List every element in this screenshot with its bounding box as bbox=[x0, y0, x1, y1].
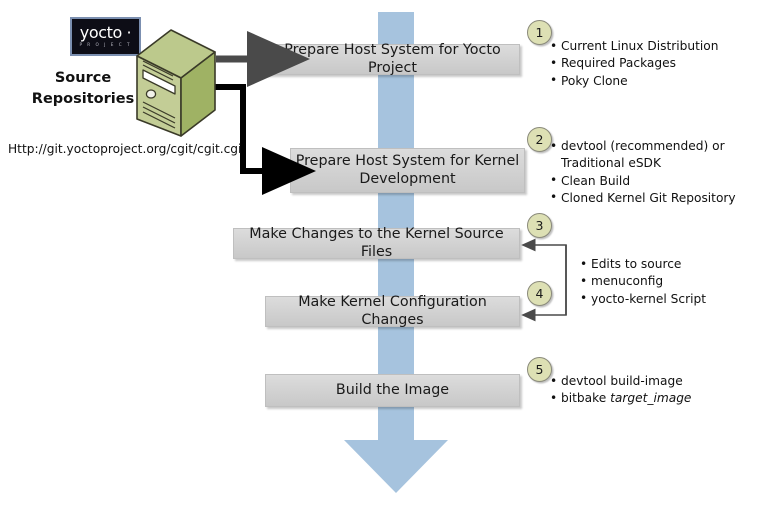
process-box-label: Make Kernel Configuration Changes bbox=[266, 294, 519, 330]
notes-steps-3-4: Edits to sourcemenuconfigyocto-kernel Sc… bbox=[580, 256, 706, 308]
note-text: bitbake bbox=[561, 391, 610, 405]
step-number-label: 5 bbox=[536, 362, 544, 377]
step-number-2: 2 bbox=[527, 127, 552, 152]
source-label-line-2: Repositories bbox=[24, 89, 142, 110]
note-text: devtool build-image bbox=[561, 374, 683, 388]
note-item: menuconfig bbox=[580, 273, 706, 290]
process-box-label-line-2: Development bbox=[359, 171, 455, 187]
note-item: Cloned Kernel Git Repository bbox=[550, 190, 736, 207]
server-icon bbox=[129, 26, 219, 141]
note-item: Edits to source bbox=[580, 256, 706, 273]
note-item: devtool (recommended) or bbox=[550, 138, 736, 155]
notes-step-1: Current Linux DistributionRequired Packa… bbox=[550, 38, 718, 90]
source-repository-url: Http://git.yoctoproject.org/cgit/cgit.cg… bbox=[8, 142, 241, 156]
process-box-make-config-changes[interactable]: Make Kernel Configuration Changes bbox=[265, 296, 520, 327]
note-item: bitbake target_image bbox=[550, 390, 691, 407]
note-item: Traditional eSDK bbox=[550, 155, 736, 172]
process-box-label: Prepare Host System for Yocto Project bbox=[266, 42, 519, 78]
note-text: menuconfig bbox=[591, 274, 663, 288]
workflow-diagram: yocto · P R O J E C T Source Repositorie… bbox=[0, 0, 769, 517]
note-item: Current Linux Distribution bbox=[550, 38, 718, 55]
note-item: yocto-kernel Script bbox=[580, 291, 706, 308]
note-text: Poky Clone bbox=[561, 74, 628, 88]
step-number-3: 3 bbox=[527, 213, 552, 238]
note-item: Clean Build bbox=[550, 173, 736, 190]
step-number-label: 3 bbox=[536, 218, 544, 233]
notes-step-5: devtool build-imagebitbake target_image bbox=[550, 373, 691, 408]
note-text: Current Linux Distribution bbox=[561, 39, 718, 53]
note-text-emphasis: target_image bbox=[610, 391, 691, 405]
process-box-label: Prepare Host System for Kernel Developme… bbox=[296, 153, 520, 189]
source-repositories-label: Source Repositories bbox=[24, 68, 142, 110]
step-number-label: 2 bbox=[536, 132, 544, 147]
step-number-label: 4 bbox=[536, 286, 544, 301]
note-item: Poky Clone bbox=[550, 73, 718, 90]
process-box-label-line-1: Prepare Host System for Kernel bbox=[296, 153, 520, 169]
note-item: Required Packages bbox=[550, 55, 718, 72]
step-number-1: 1 bbox=[527, 20, 552, 45]
step-number-5: 5 bbox=[527, 357, 552, 382]
step-number-4: 4 bbox=[527, 281, 552, 306]
process-box-label: Make Changes to the Kernel Source Files bbox=[234, 226, 519, 262]
flow-arrowhead-icon bbox=[344, 440, 448, 493]
process-box-label: Build the Image bbox=[336, 382, 449, 400]
step-number-label: 1 bbox=[536, 25, 544, 40]
note-text: Traditional eSDK bbox=[561, 156, 661, 170]
process-box-prepare-host-yocto[interactable]: Prepare Host System for Yocto Project bbox=[265, 44, 520, 75]
process-box-build-image[interactable]: Build the Image bbox=[265, 374, 520, 407]
note-text: Clean Build bbox=[561, 174, 630, 188]
process-box-make-source-changes[interactable]: Make Changes to the Kernel Source Files bbox=[233, 228, 520, 259]
note-text: Required Packages bbox=[561, 56, 676, 70]
note-text: Cloned Kernel Git Repository bbox=[561, 191, 736, 205]
notes-step-2: devtool (recommended) orTraditional eSDK… bbox=[550, 138, 736, 207]
source-label-line-1: Source bbox=[24, 68, 142, 89]
process-box-prepare-host-kernel[interactable]: Prepare Host System for Kernel Developme… bbox=[290, 148, 525, 193]
note-text: yocto-kernel Script bbox=[591, 292, 706, 306]
note-item: devtool build-image bbox=[550, 373, 691, 390]
note-text: Edits to source bbox=[591, 257, 681, 271]
note-text: devtool (recommended) or bbox=[561, 139, 725, 153]
